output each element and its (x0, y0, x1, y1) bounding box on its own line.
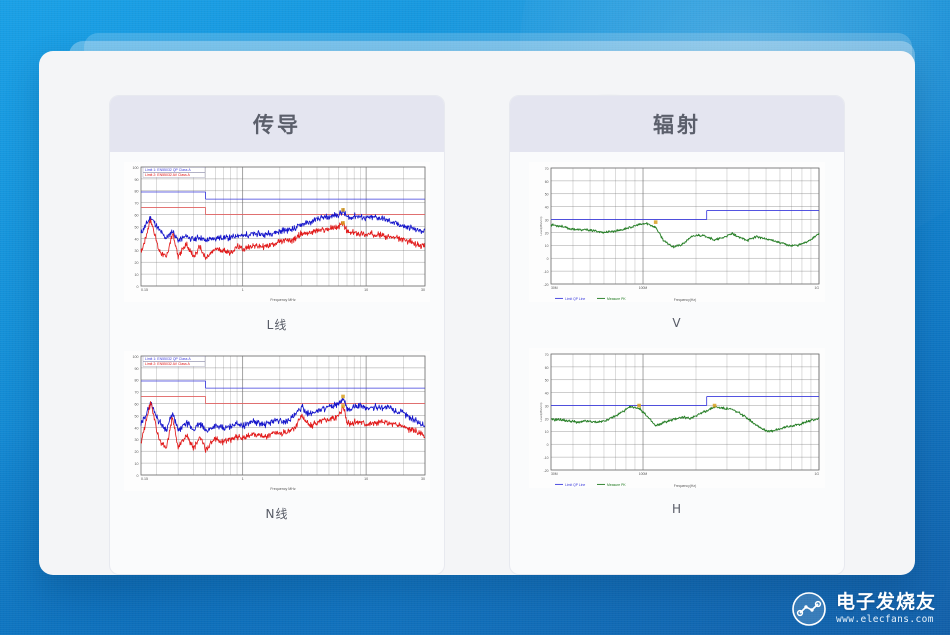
svg-text:60: 60 (135, 403, 139, 407)
svg-text:1G: 1G (814, 286, 819, 290)
svg-text:60: 60 (545, 180, 549, 184)
svg-text:50: 50 (545, 193, 549, 197)
chart-block-radiated-H: -20-1001020304050607030M100M1GFrequency(… (510, 348, 844, 534)
brand-name: 电子发烧友 (836, 593, 936, 612)
svg-text:20: 20 (545, 231, 549, 235)
svg-text:100: 100 (133, 355, 139, 359)
svg-text:0: 0 (547, 443, 549, 447)
svg-text:70: 70 (135, 391, 139, 395)
svg-text:0: 0 (137, 285, 139, 289)
panel-radiated: 辐射 -20-1001020304050607030M100M1GFrequen… (509, 95, 845, 575)
svg-text:0.15: 0.15 (141, 288, 148, 292)
chart-block-conducted-N: 01020304050607080901000.1511030Frequency… (110, 351, 444, 540)
svg-text:Level(dBuV/m): Level(dBuV/m) (539, 402, 543, 421)
svg-text:Frequency MHz: Frequency MHz (270, 298, 296, 302)
svg-text:0: 0 (547, 257, 549, 261)
main-card: 传导 01020304050607080901000.1511030Freque… (39, 51, 915, 575)
svg-text:Limit QP Line: Limit QP Line (565, 297, 585, 301)
svg-text:50: 50 (135, 414, 139, 418)
svg-text:10: 10 (545, 430, 549, 434)
panel-conducted: 传导 01020304050607080901000.1511030Freque… (109, 95, 445, 575)
svg-text:10: 10 (545, 244, 549, 248)
svg-text:-10: -10 (544, 456, 549, 460)
svg-text:Level(dBuV/m): Level(dBuV/m) (539, 216, 543, 235)
svg-text:90: 90 (135, 178, 139, 182)
svg-text:30: 30 (421, 477, 425, 481)
svg-text:1: 1 (242, 288, 244, 292)
panel-radiated-body: -20-1001020304050607030M100M1GFrequency(… (510, 152, 844, 574)
svg-text:30: 30 (421, 288, 425, 292)
svg-text:1G: 1G (814, 472, 819, 476)
svg-text:100M: 100M (639, 472, 648, 476)
svg-text:Limit 1: EN55032 QP Class A: Limit 1: EN55032 QP Class A (145, 357, 191, 361)
brand-watermark: 电子发烧友 www.elecfans.com (791, 591, 936, 627)
svg-text:0: 0 (137, 474, 139, 478)
chart-caption-conducted-L: L线 (267, 316, 288, 333)
svg-text:-20: -20 (544, 283, 549, 287)
svg-text:-20: -20 (544, 469, 549, 473)
chart-caption-radiated-H: H (672, 502, 682, 516)
svg-text:10: 10 (364, 288, 368, 292)
svg-text:40: 40 (135, 237, 139, 241)
svg-text:30: 30 (545, 218, 549, 222)
svg-text:40: 40 (135, 426, 139, 430)
brand-text: 电子发烧友 www.elecfans.com (836, 593, 936, 625)
svg-text:Frequency MHz: Frequency MHz (270, 487, 296, 491)
brand-url: www.elecfans.com (836, 615, 936, 625)
svg-text:Measure PK: Measure PK (607, 297, 626, 301)
svg-text:90: 90 (135, 367, 139, 371)
svg-text:1: 1 (242, 477, 244, 481)
chart-conducted-N[interactable]: 01020304050607080901000.1511030Frequency… (124, 351, 430, 491)
chart-radiated-V[interactable]: -20-1001020304050607030M100M1GFrequency(… (529, 162, 825, 302)
svg-text:30M: 30M (551, 286, 558, 290)
svg-text:Frequency(Hz): Frequency(Hz) (674, 298, 696, 302)
svg-text:40: 40 (545, 206, 549, 210)
panel-conducted-header: 传导 (110, 96, 444, 152)
svg-text:Limit 1: EN55032 QP Class A: Limit 1: EN55032 QP Class A (145, 168, 191, 172)
chart-radiated-H[interactable]: -20-1001020304050607030M100M1GFrequency(… (529, 348, 825, 488)
svg-text:30M: 30M (551, 472, 558, 476)
svg-text:Limit 2: EN55032 AV Class A: Limit 2: EN55032 AV Class A (145, 173, 191, 177)
svg-text:70: 70 (135, 202, 139, 206)
svg-text:50: 50 (545, 379, 549, 383)
chart-block-conducted-L: 01020304050607080901000.1511030Frequency… (110, 162, 444, 351)
svg-text:60: 60 (135, 214, 139, 218)
svg-text:30: 30 (545, 404, 549, 408)
svg-text:30: 30 (135, 249, 139, 253)
svg-text:Limit 2: EN55032 AV Class A: Limit 2: EN55032 AV Class A (145, 362, 191, 366)
svg-text:70: 70 (545, 167, 549, 171)
svg-text:70: 70 (545, 353, 549, 357)
svg-text:100: 100 (133, 166, 139, 170)
panels-container: 传导 01020304050607080901000.1511030Freque… (39, 51, 915, 575)
svg-text:20: 20 (135, 450, 139, 454)
svg-text:Measure PK: Measure PK (607, 483, 626, 487)
svg-text:20: 20 (545, 417, 549, 421)
svg-text:10: 10 (135, 273, 139, 277)
svg-text:50: 50 (135, 225, 139, 229)
svg-text:10: 10 (364, 477, 368, 481)
svg-text:Frequency(Hz): Frequency(Hz) (674, 484, 696, 488)
svg-text:Limit QP Line: Limit QP Line (565, 483, 585, 487)
svg-text:80: 80 (135, 190, 139, 194)
svg-text:-10: -10 (544, 270, 549, 274)
svg-text:60: 60 (545, 366, 549, 370)
svg-text:10: 10 (135, 462, 139, 466)
svg-text:30: 30 (135, 438, 139, 442)
panel-radiated-title: 辐射 (653, 109, 701, 139)
chart-block-radiated-V: -20-1001020304050607030M100M1GFrequency(… (510, 162, 844, 348)
circuit-node-icon (791, 591, 827, 627)
chart-caption-radiated-V: V (672, 316, 681, 330)
panel-radiated-header: 辐射 (510, 96, 844, 152)
panel-conducted-body: 01020304050607080901000.1511030Frequency… (110, 152, 444, 574)
panel-conducted-title: 传导 (253, 109, 301, 139)
chart-caption-conducted-N: N线 (266, 505, 289, 522)
svg-text:0.15: 0.15 (141, 477, 148, 481)
svg-text:80: 80 (135, 379, 139, 383)
chart-conducted-L[interactable]: 01020304050607080901000.1511030Frequency… (124, 162, 430, 302)
svg-text:100M: 100M (639, 286, 648, 290)
svg-text:40: 40 (545, 392, 549, 396)
svg-text:20: 20 (135, 261, 139, 265)
